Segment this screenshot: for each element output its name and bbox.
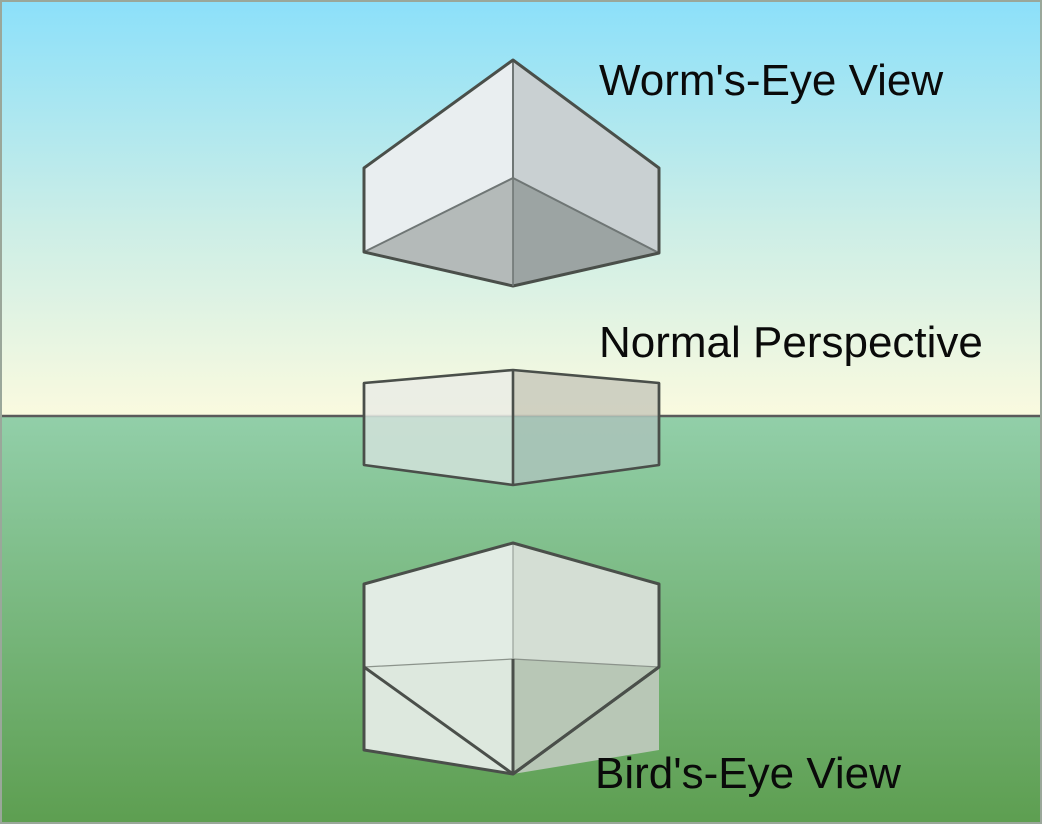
normal-perspective-label: Normal Perspective bbox=[599, 318, 983, 367]
birds-eye-label: Bird's-Eye View bbox=[595, 749, 901, 798]
birds-eye-box bbox=[364, 543, 659, 774]
worms-eye-label: Worm's-Eye View bbox=[599, 56, 943, 105]
scene-svg: Worm's-Eye View Normal Perspective Bird'… bbox=[2, 2, 1042, 824]
perspective-diagram-canvas: Worm's-Eye View Normal Perspective Bird'… bbox=[0, 0, 1042, 824]
normal-perspective-box bbox=[364, 370, 659, 485]
